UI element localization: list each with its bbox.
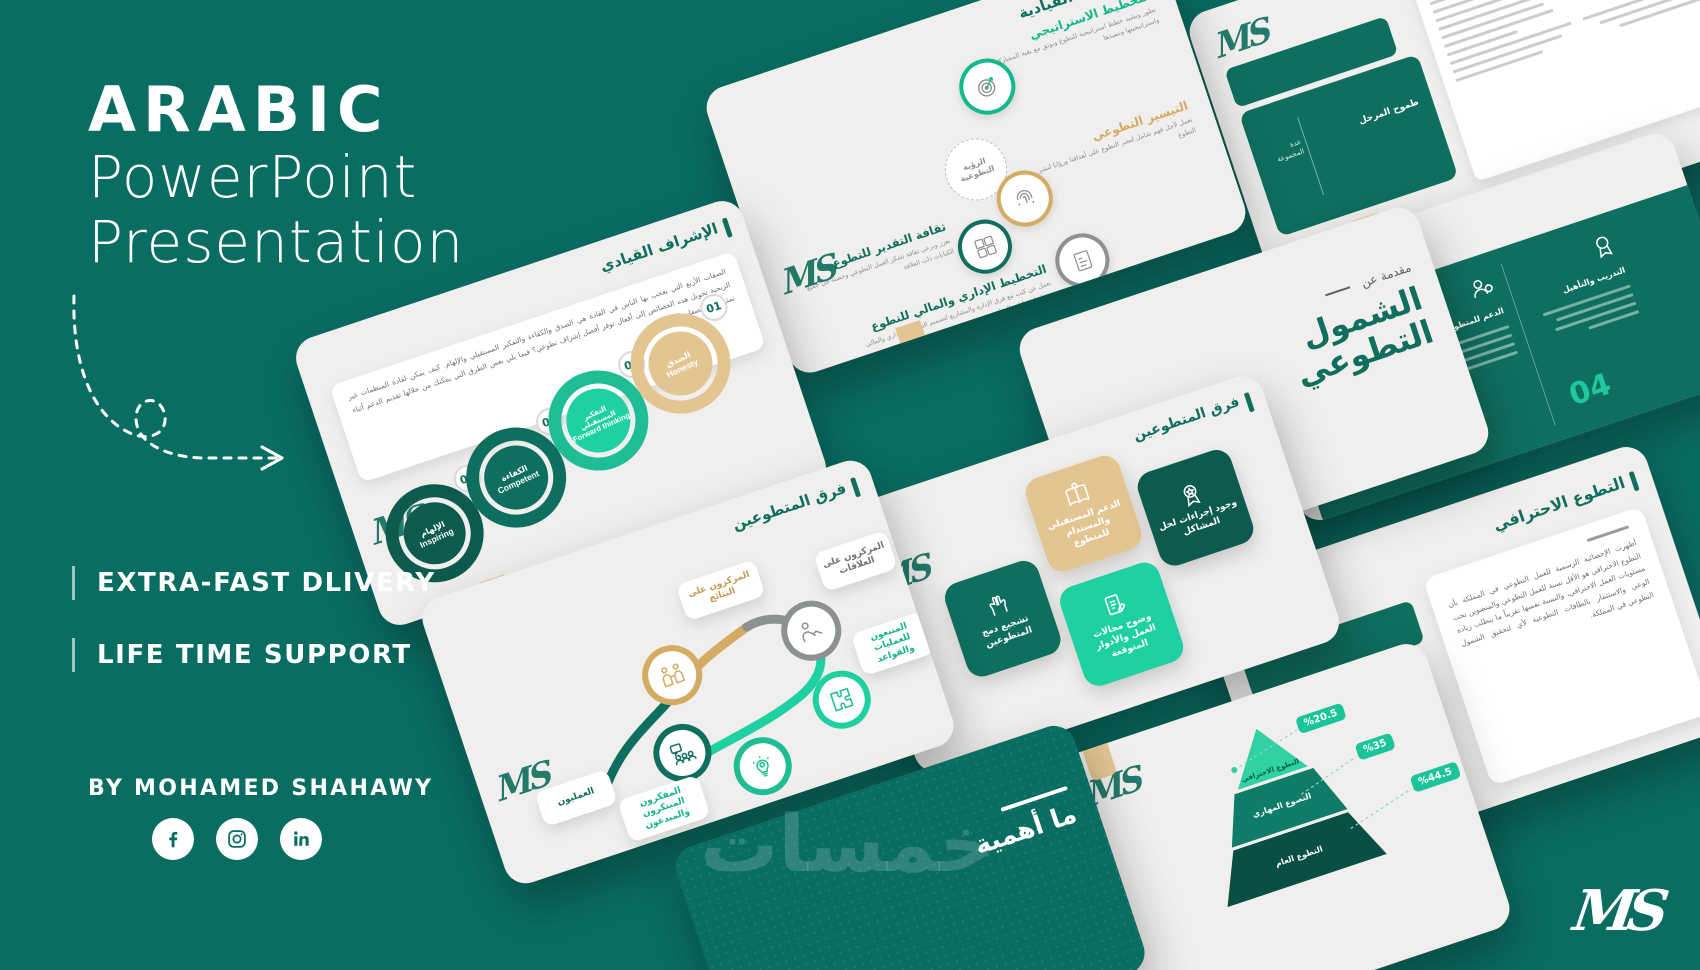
inclusion-card-clarity[interactable]: وضوح مجالات العمل والأدوار المتوقعة [1056, 558, 1188, 690]
doc-text-lines-left [1415, 0, 1579, 88]
body-panel: أظهرت الإحصائية الرسمية للعمل التطوعي في… [1423, 506, 1700, 786]
facebook-icon[interactable] [152, 818, 194, 860]
body-text: أظهرت الإحصائية الرسمية للعمل التطوعي في… [1446, 536, 1655, 664]
hero-title-line2: PowerPoint [88, 145, 648, 210]
negotiation-icon [656, 659, 689, 692]
author-byline: BY MOHAMED SHAHAWY [88, 776, 433, 801]
gear-people-icon [1465, 270, 1498, 303]
report-icon [1068, 246, 1097, 275]
inclusion-card-label: الدعم المستقبلي والمستدام للمتطوع [1044, 498, 1133, 557]
hero-title-line3: Presentation [88, 210, 648, 275]
center-vision-label: الرؤية التطوعية [944, 150, 1007, 189]
linkedin-glyph [290, 828, 312, 850]
social-links [152, 818, 322, 860]
target-icon [972, 71, 1002, 101]
title-tick [722, 217, 733, 238]
hero-block: ARABIC PowerPoint Presentation [88, 78, 648, 275]
inclusion-card-label: وضوح مجالات العمل والأدوار المتوقعة [1079, 608, 1174, 669]
doc-label-sub: عدة المجموعة [1262, 138, 1306, 169]
number-column: التدريب والتأهيل 04 [1517, 224, 1616, 257]
features-list: EXTRA-FAST DLIVERY LIFE TIME SUPPORT [72, 566, 436, 710]
document-pen-icon [1099, 589, 1132, 622]
puzzle-icon [970, 232, 999, 261]
award-icon [1175, 478, 1208, 511]
intro-title-block: مقدمة عن الشمول التطوعي [1274, 258, 1438, 392]
bulb-gear-icon [746, 750, 779, 783]
title-tick [1244, 392, 1255, 413]
fingerprint-icon [1010, 183, 1040, 213]
decorative-arrow-icon [60, 290, 320, 510]
feature-label: EXTRA-FAST DLIVERY [97, 568, 436, 598]
inclusion-card-support[interactable]: الدعم المستقبلي والمستدام للمتطوع [1022, 452, 1146, 576]
brand-monogram-large-icon: MS [1569, 878, 1665, 944]
hero-title-line1: ARABIC [88, 78, 648, 141]
feature-item: LIFE TIME SUPPORT [72, 638, 436, 672]
handshake-icon [795, 614, 828, 647]
competency-item-appreciation[interactable]: ثقافة التقدير للتطوع نعزز ونرعى ثقافة تش… [782, 219, 956, 310]
doc-label-title: طموح المرحل [1358, 96, 1421, 128]
team-chat-icon [666, 737, 699, 770]
inclusion-card-integration[interactable]: تشجيع دمج المتطوعين [941, 557, 1065, 681]
book-idea-icon [1061, 479, 1094, 512]
competency-item-facilitation[interactable]: التيسير التطوعي نعمل لأجل فهم شامل لنشر … [1018, 98, 1197, 191]
inclusion-card-procedures[interactable]: وجود إجراءات لحل المشاكل [1133, 446, 1257, 570]
feature-bar [72, 566, 75, 600]
badge-icon [1587, 229, 1620, 262]
hands-icon [981, 589, 1016, 623]
instagram-icon[interactable] [216, 818, 258, 860]
eyebrow-rule [1325, 286, 1350, 296]
feature-bar [72, 638, 75, 672]
feature-label: LIFE TIME SUPPORT [97, 640, 412, 670]
title-tick [1629, 471, 1640, 492]
number-value: 04 [1565, 367, 1616, 413]
icon-ring-puzzle [951, 212, 1019, 280]
icon-ring-report [1048, 226, 1116, 294]
linkedin-icon[interactable] [280, 818, 322, 860]
facebook-glyph [162, 828, 184, 850]
puzzle-icon [825, 683, 858, 716]
instagram-glyph [226, 828, 248, 850]
poster-canvas: MS طموح المرحل عدة المجموعة [0, 0, 1700, 970]
feature-item: EXTRA-FAST DLIVERY [72, 566, 436, 600]
